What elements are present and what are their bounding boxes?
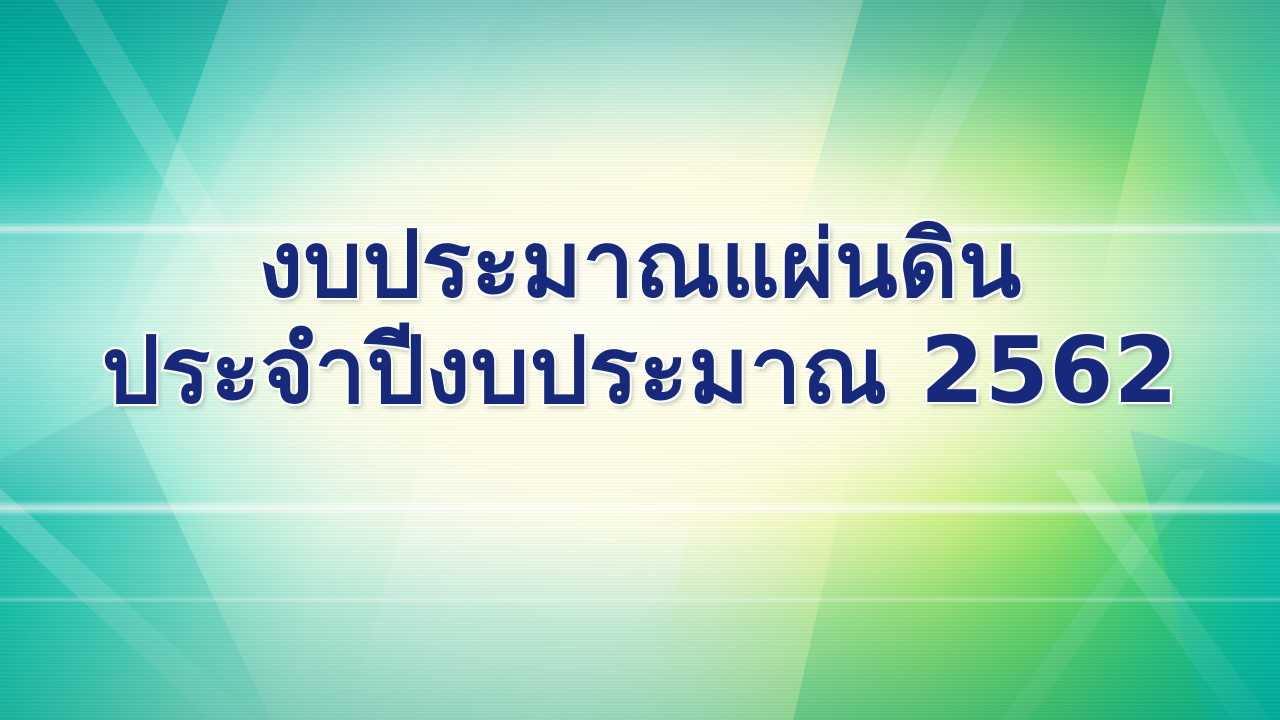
slide-title-line-2: ประจำปีงบประมาณ 2562 <box>0 324 1280 418</box>
slide-title-block: งบประมาณแผ่นดิน ประจำปีงบประมาณ 2562 <box>0 218 1280 418</box>
shape-diamond-bottom-mid <box>330 430 700 720</box>
slide-title-line-1: งบประมาณแผ่นดิน <box>0 218 1280 312</box>
presentation-slide: งบประมาณแผ่นดิน ประจำปีงบประมาณ 2562 <box>0 0 1280 720</box>
